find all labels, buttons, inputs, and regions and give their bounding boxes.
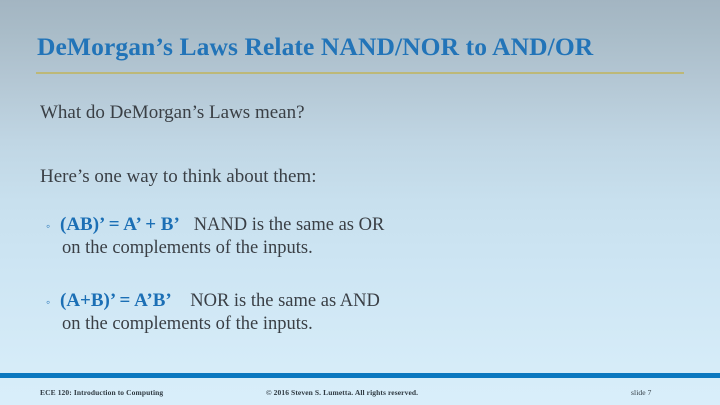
boolean-formula: (AB)’ = A’ + B’ [60,214,180,235]
formula-gloss: NOR is the same as AND [172,291,380,311]
footer-slide-number: slide 7 [631,388,652,397]
footer-copyright: © 2016 Steven S. Lumetta. All rights res… [266,388,418,397]
slide-canvas: DeMorgan’s Laws Relate NAND/NOR to AND/O… [0,0,720,405]
footer-course-label: ECE 120: Introduction to Computing [40,388,163,397]
boolean-formula: (A+B)’ = A’B’ [60,290,172,311]
list-item-content: (A+B)’ = A’B’ NOR is the same as AND on … [60,289,666,336]
list-item-content: (AB)’ = A’ + B’ NAND is the same as OR o… [60,213,666,260]
list-item: ◦ (A+B)’ = A’B’ NOR is the same as AND o… [46,289,666,336]
formula-gloss-continuation: on the complements of the inputs. [62,313,666,336]
lead-question: What do DeMorgan’s Laws mean? [40,101,305,125]
formula-gloss: NAND is the same as OR [180,215,385,235]
bullet-circle-icon: ◦ [46,217,50,235]
page-title: DeMorgan’s Laws Relate NAND/NOR to AND/O… [37,32,687,62]
bullet-circle-icon: ◦ [46,293,50,311]
formula-gloss-continuation: on the complements of the inputs. [62,237,666,260]
title-divider [36,72,684,74]
list-item: ◦ (AB)’ = A’ + B’ NAND is the same as OR… [46,213,666,260]
lead-intro: Here’s one way to think about them: [40,165,317,189]
footer-divider [0,373,720,378]
